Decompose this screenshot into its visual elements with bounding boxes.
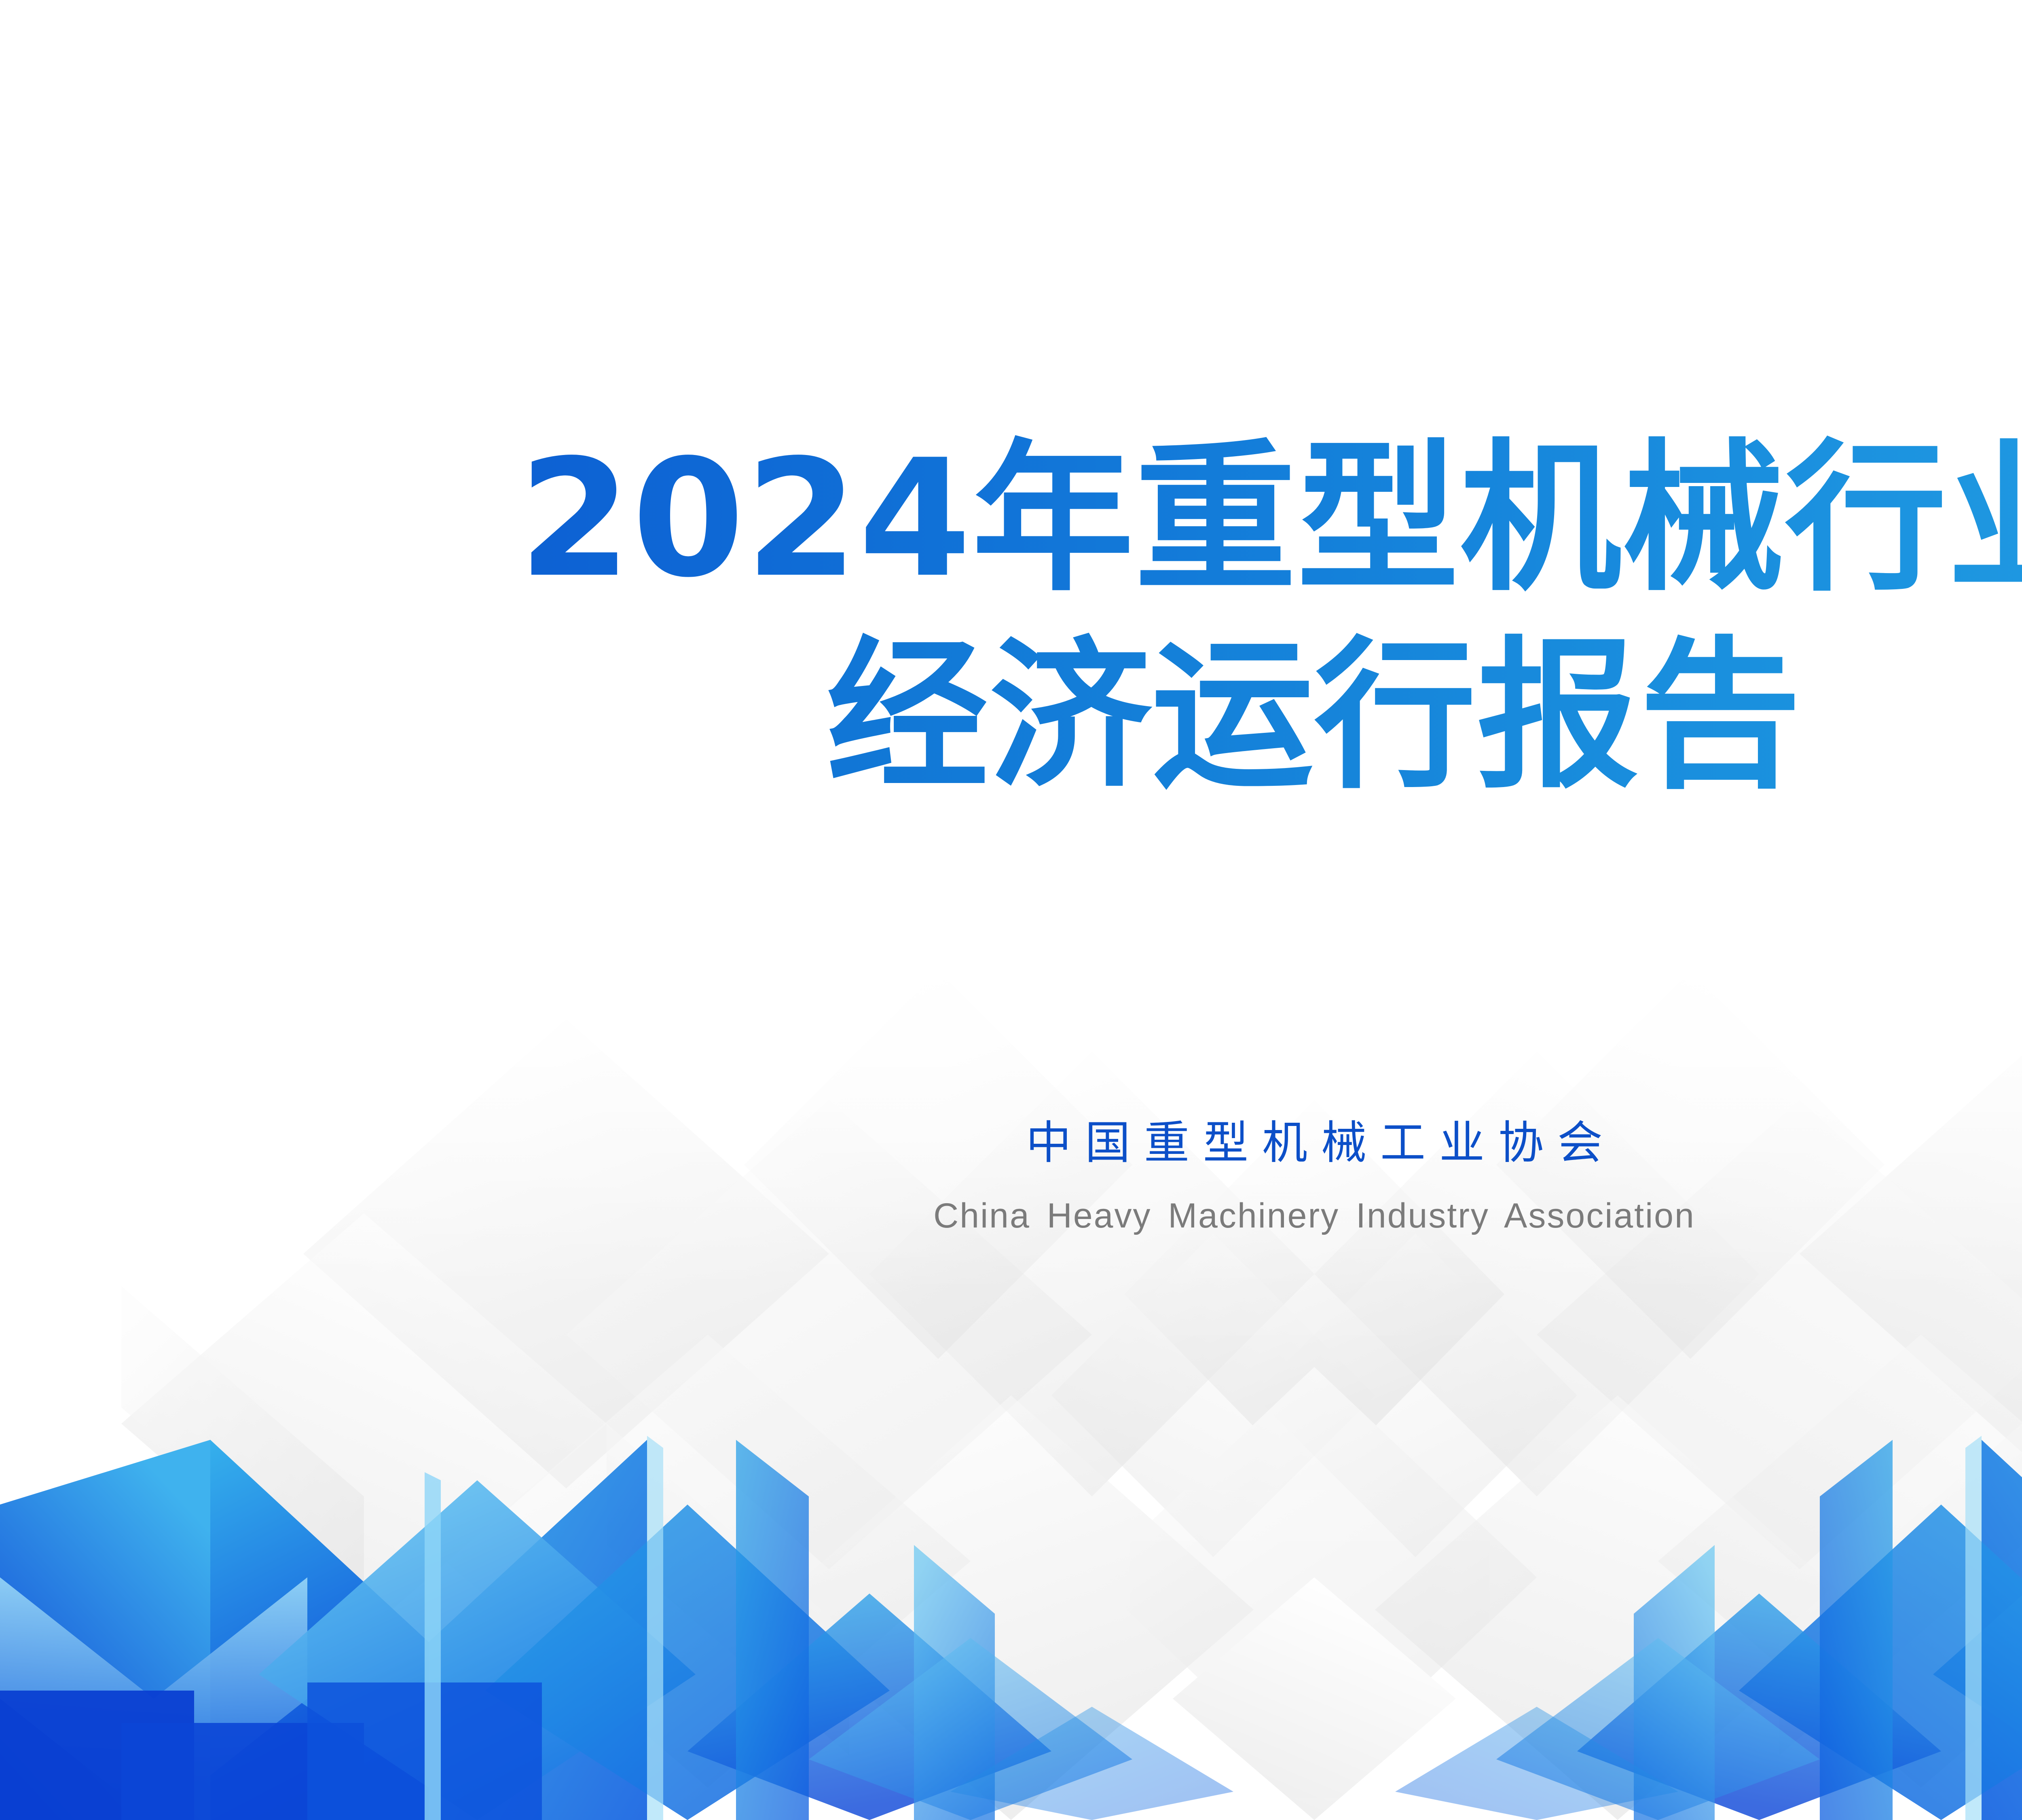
organization-name-cn: 中国重型机械工业协会	[0, 1106, 2022, 1172]
organization-name-en: China Heavy Machinery Industry Associati…	[0, 1196, 2022, 1236]
cover-title: 2024年重型机械行业 经济运行报告	[0, 421, 2022, 815]
organization-block: 中国重型机械工业协会 China Heavy Machinery Industr…	[0, 1106, 2022, 1236]
title-line-1: 2024年重型机械行业	[0, 421, 2022, 618]
title-line-2: 经济运行报告	[0, 618, 2022, 815]
report-cover-slide: 2024年重型机械行业 经济运行报告 中国重型机械工业协会 China Heav…	[0, 0, 2022, 1820]
